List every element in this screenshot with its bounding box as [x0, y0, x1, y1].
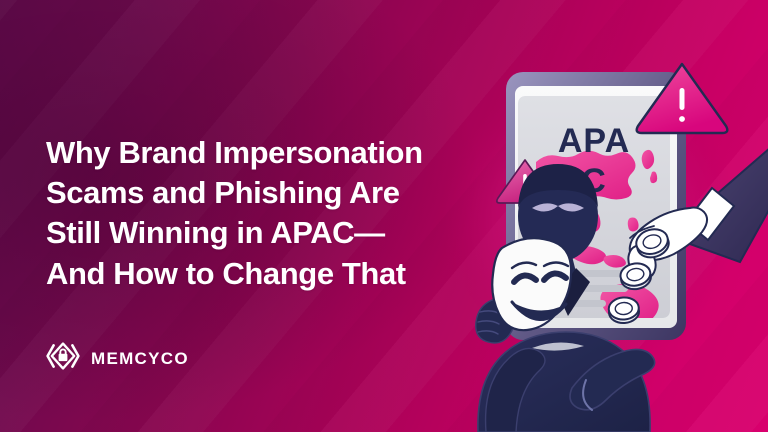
memcyco-lock-shield-icon: [46, 341, 80, 376]
memcyco-logo[interactable]: MEMCYCO: [46, 341, 189, 376]
device-label-line1: APA: [558, 122, 630, 160]
hero-illustration: APA C: [440, 0, 768, 432]
memcyco-wordmark: MEMCYCO: [91, 349, 189, 369]
blog-hero-banner: Why Brand Impersonation Scams and Phishi…: [0, 0, 768, 432]
